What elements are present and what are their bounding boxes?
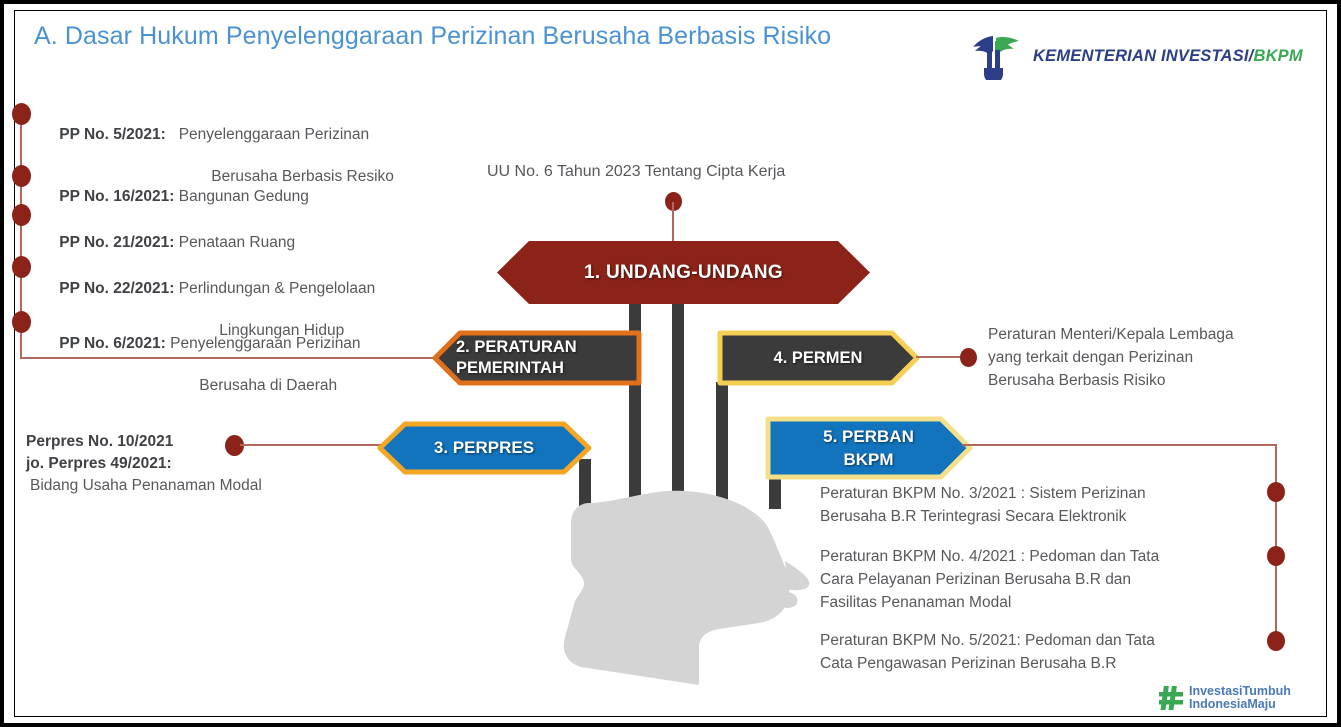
hashtag-icon	[1159, 685, 1183, 711]
pp-code: PP No. 6/2021	[59, 335, 160, 352]
slide-canvas: A. Dasar Hukum Penyelenggaraan Perizinan…	[0, 0, 1341, 727]
perban-connector-dot	[1267, 482, 1285, 502]
perban-note: Peraturan BKPM No. 4/2021 : Pedoman dan …	[820, 545, 1159, 614]
pp-sep: :	[169, 280, 174, 297]
sign-undang-undang[interactable]: 1. UNDANG-UNDANG	[497, 241, 870, 304]
ministry-logo: KEMENTERIAN INVESTASI/BKPM	[969, 32, 1303, 80]
permen-note-line2: yang terkait dengan Perizinan	[988, 346, 1234, 369]
pp-sep: :	[169, 234, 174, 251]
sign-permen[interactable]: 4. PERMEN	[718, 332, 918, 384]
bkpm-emblem-icon	[969, 32, 1023, 80]
sign-peraturan-pemerintah[interactable]: 2. PERATURAN PEMERINTAH	[434, 332, 640, 384]
permen-note-line3: Berusaha Berbasis Risiko	[988, 369, 1234, 392]
list-item: PP No. 6/2021: Penyelenggaraan Perizinan…	[42, 312, 361, 417]
sign-perban-bkpm[interactable]: 5. PERBAN BKPM	[766, 418, 971, 478]
perpres-connector-line	[240, 444, 395, 446]
pp-desc-line1: Perlindungan & Pengelolaan	[179, 280, 376, 297]
perban-note: Peraturan BKPM No. 5/2021: Pedoman dan T…	[820, 629, 1155, 675]
pp-desc-line1: Penataan Ruang	[179, 234, 295, 251]
hashtag-logo: InvestasiTumbuh IndonesiaMaju	[1159, 685, 1291, 711]
perpres-note-line2: jo. Perpres 49/2021	[26, 455, 166, 472]
pp-code: PP No. 21/2021	[59, 234, 169, 251]
pp-sep: :	[161, 335, 166, 352]
permen-connector-line	[916, 356, 964, 358]
perban-note: Peraturan BKPM No. 3/2021 : Sistem Periz…	[820, 482, 1146, 528]
uu-note-label: UU No. 6 Tahun 2023 Tentang Cipta Kerja	[487, 163, 785, 181]
perpres-note-line3: Bidang Usaha Penanaman Modal	[30, 475, 262, 497]
perban-note-line3: Fasilitas Penanaman Modal	[820, 591, 1159, 614]
ministry-name-secondary: BKPM	[1253, 47, 1302, 65]
hashtag-line2: IndonesiaMaju	[1189, 698, 1291, 711]
pp-bullet-dot	[12, 165, 31, 187]
pp-desc-line1: Penyelenggaraan Perizinan	[170, 335, 360, 352]
permen-connector-dot	[960, 348, 977, 367]
perban-connector-line-vertical	[1275, 444, 1277, 646]
perban-note-line1: Peraturan BKPM No. 4/2021 : Pedoman dan …	[820, 545, 1159, 568]
signpost-pole	[629, 294, 641, 509]
signpost-pole	[672, 294, 684, 509]
perban-connector-line-horizontal	[962, 444, 1277, 446]
pp-code: PP No. 5/2021	[59, 126, 160, 143]
page-title: A. Dasar Hukum Penyelenggaraan Perizinan…	[34, 22, 831, 51]
pp-bullet-dot	[12, 256, 31, 278]
hashtag-logo-text: InvestasiTumbuh IndonesiaMaju	[1189, 685, 1291, 711]
pp-code: PP No. 22/2021	[59, 280, 169, 297]
pp-code: PP No. 16/2021	[59, 188, 169, 205]
pp-bullet-dot	[12, 103, 31, 125]
perban-note-line2: Cata Pengawasan Perizinan Berusaha B.R	[820, 652, 1155, 675]
pp-desc-line1: Penyelenggaraan Perizinan	[179, 126, 369, 143]
perban-note-line2: Berusaha B.R Terintegrasi Secara Elektro…	[820, 505, 1146, 528]
pp-desc-line1: Bangunan Gedung	[179, 188, 309, 205]
permen-note-line1: Peraturan Menteri/Kepala Lembaga	[988, 323, 1234, 346]
pp-bullet-dot	[12, 204, 31, 226]
perban-connector-dot	[1267, 631, 1285, 651]
ministry-name-primary: KEMENTERIAN INVESTASI/	[1033, 47, 1253, 65]
ministry-logo-text: KEMENTERIAN INVESTASI/BKPM	[1033, 47, 1303, 66]
pp-bullet-dot	[12, 311, 31, 333]
pp-desc-line2: Berusaha di Daerah	[199, 375, 337, 396]
permen-note: Peraturan Menteri/Kepala Lembaga yang te…	[988, 323, 1234, 392]
sign-perpres[interactable]: 3. PERPRES	[378, 423, 590, 473]
perban-note-line2: Cara Pelayanan Perizinan Berusaha B.R da…	[820, 568, 1159, 591]
perpres-note-sep: :	[166, 455, 171, 472]
perban-note-line1: Peraturan BKPM No. 5/2021: Pedoman dan T…	[820, 629, 1155, 652]
perban-connector-dot	[1267, 546, 1285, 566]
pp-sep: :	[169, 188, 174, 205]
pp-sep: :	[161, 126, 166, 143]
perban-note-line1: Peraturan BKPM No. 3/2021 : Sistem Periz…	[820, 482, 1146, 505]
head-silhouette-icon	[549, 487, 849, 687]
